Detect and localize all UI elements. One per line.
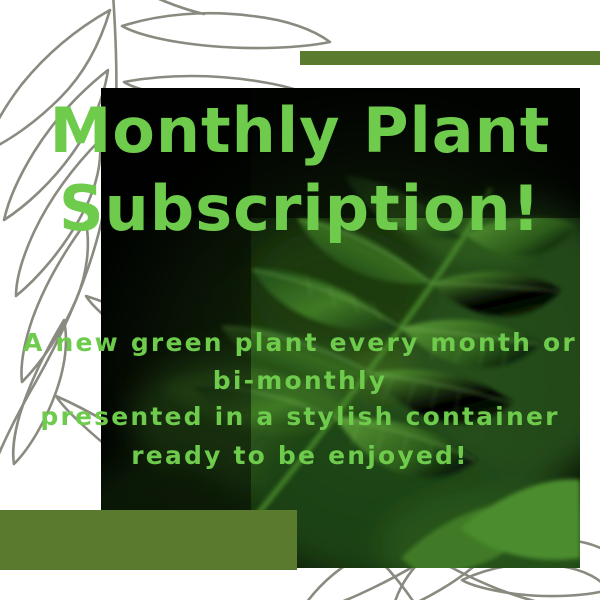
- poster-canvas: Monthly Plant Subscription! A new green …: [0, 0, 600, 600]
- body-line-2: bi-monthly: [0, 368, 600, 393]
- body-line-4: ready to be enjoyed!: [0, 443, 600, 468]
- body-line-1: A new green plant every month or: [0, 330, 600, 355]
- text-layer: Monthly Plant Subscription! A new green …: [0, 0, 600, 600]
- headline-line-2: Subscription!: [0, 178, 600, 240]
- body-line-3: presented in a stylish container: [0, 404, 600, 429]
- headline-line-1: Monthly Plant: [0, 100, 600, 162]
